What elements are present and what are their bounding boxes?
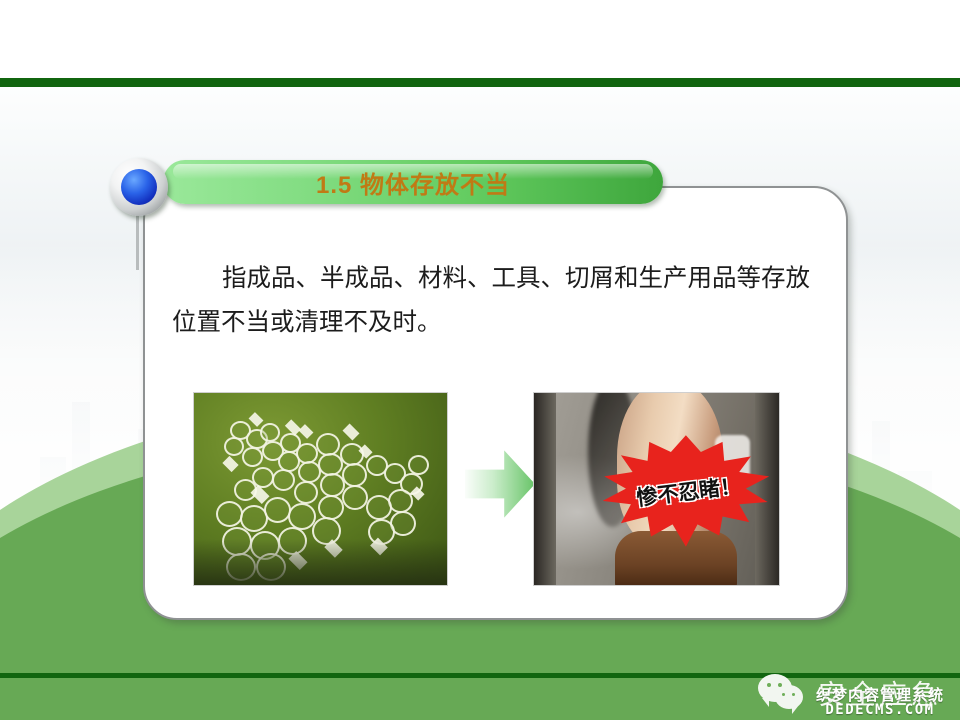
section-title-pill: 1.5 物体存放不当: [163, 160, 663, 204]
arrow-right-icon: [465, 444, 535, 524]
shoe: [615, 531, 738, 585]
wechat-eye-1: [767, 683, 771, 687]
top-green-rule: [0, 78, 960, 87]
watermark: 织梦内容管理系统 DEDECMS.COM: [816, 688, 944, 718]
top-white-margin: [0, 0, 960, 78]
wechat-eye-3: [782, 693, 785, 696]
blue-sphere-bullet-icon: [110, 158, 168, 216]
figure-right-image: 惨不忍睹！: [534, 393, 779, 585]
figure-left-image: [194, 393, 447, 585]
wechat-eye-2: [778, 683, 782, 687]
watermark-en: DEDECMS.COM: [816, 703, 944, 718]
figure-injury-photo: 惨不忍睹！: [533, 392, 780, 586]
wechat-icon: [758, 674, 810, 712]
wechat-eye-4: [792, 693, 795, 696]
figure-row: 惨不忍睹！: [143, 392, 848, 592]
wechat-bubble-small: [775, 685, 803, 709]
body-paragraph: 指成品、半成品、材料、工具、切屑和生产用品等存放位置不当或清理不及时。: [172, 256, 820, 344]
figure-left-ground-shadow: [194, 539, 447, 585]
bullet-stem: [136, 210, 139, 270]
slide: 1.5 物体存放不当 指成品、半成品、材料、工具、切屑和生产用品等存放位置不当或…: [0, 0, 960, 720]
bullet-core: [121, 169, 157, 205]
photo-dark-edge-left: [534, 393, 556, 585]
page-title: 1.5 物体存放不当: [316, 165, 510, 200]
figure-scrap-on-ground: [193, 392, 448, 586]
watermark-cn: 织梦内容管理系统: [816, 688, 944, 704]
